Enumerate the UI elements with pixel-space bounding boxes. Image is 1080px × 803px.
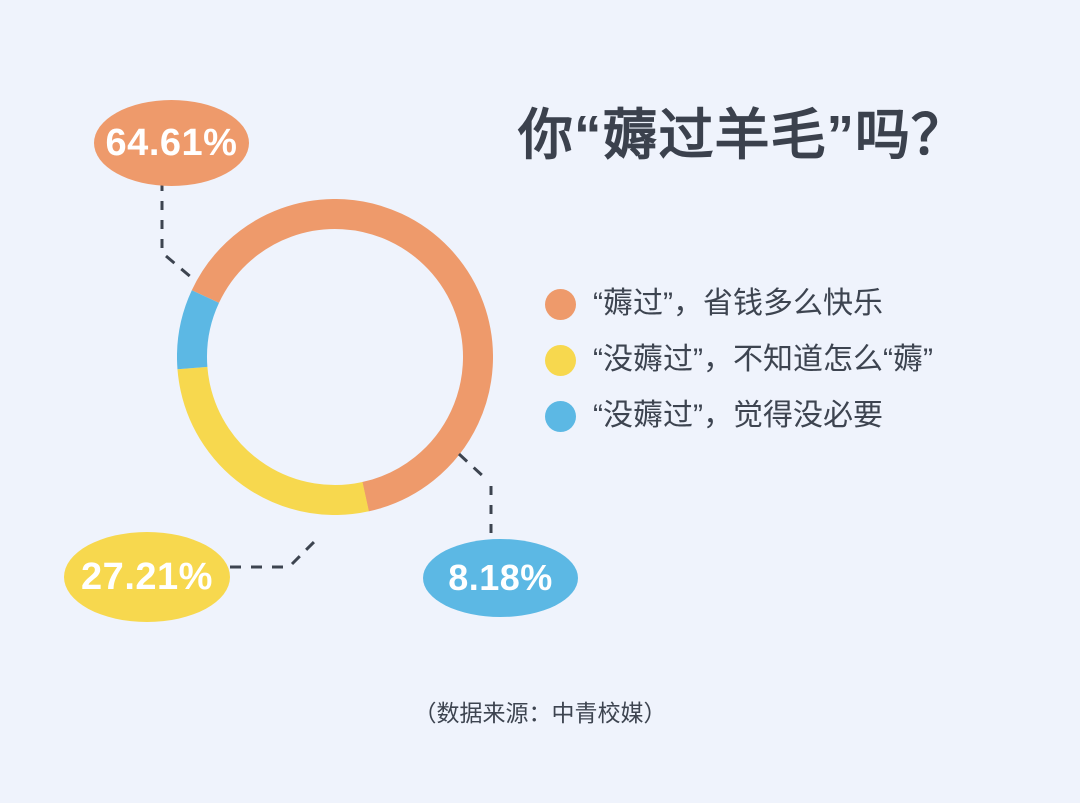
donut-chart-svg <box>177 199 493 515</box>
legend-item-1: “没薅过”，不知道怎么“薅” <box>545 332 1055 388</box>
legend-item-2: “没薅过”，觉得没必要 <box>545 388 1055 444</box>
legend-swatch-icon-orange <box>545 289 576 320</box>
legend: “薅过”，省钱多么快乐 “没薅过”，不知道怎么“薅” “没薅过”，觉得没必要 <box>545 276 1055 444</box>
value-bubble-yellow: 27.21% <box>64 532 230 622</box>
legend-item-0: “薅过”，省钱多么快乐 <box>545 276 1055 332</box>
page-title: 你“薅过羊毛”吗？ <box>518 105 1038 166</box>
leader-line-yellow <box>226 520 336 580</box>
legend-swatch-icon-yellow <box>545 345 576 376</box>
legend-swatch-icon-blue <box>545 401 576 432</box>
value-bubble-blue: 8.18% <box>423 539 578 617</box>
source-note: （数据来源：中青校媒） <box>0 694 1080 728</box>
value-bubble-orange: 64.61% <box>94 100 249 186</box>
leader-line-yellow-diagonal <box>292 538 318 564</box>
legend-label-1: “没薅过”，不知道怎么“薅” <box>593 345 933 375</box>
donut-chart <box>177 199 493 515</box>
legend-label-0: “薅过”，省钱多么快乐 <box>593 289 883 319</box>
legend-label-2: “没薅过”，觉得没必要 <box>593 401 883 431</box>
infographic-canvas: 你“薅过羊毛”吗？ 64.61% 27.21% 8.18% <box>0 0 1080 803</box>
